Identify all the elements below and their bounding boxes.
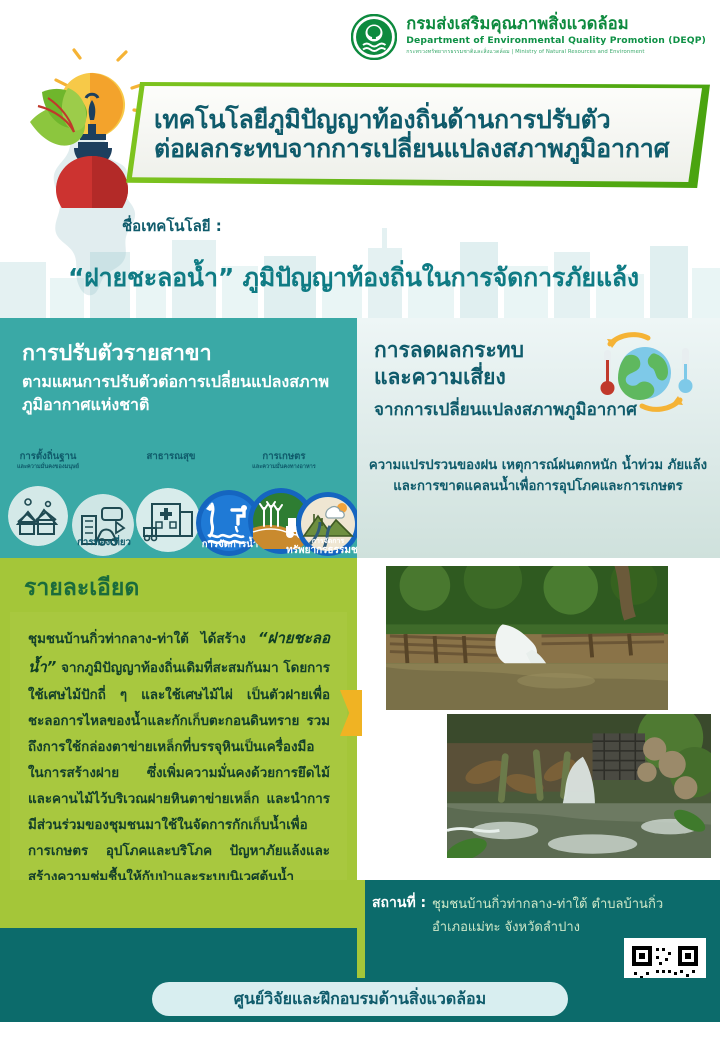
settlement-houses-icon: [8, 486, 68, 546]
mitigation-title-line2: และความเสี่ยง: [374, 365, 506, 390]
org-name-thai: กรมส่งเสริมคุณภาพสิ่งแวดล้อม: [406, 15, 706, 33]
footer-text: ศูนย์วิจัยและฝึกอบรมด้านสิ่งแวดล้อม: [234, 987, 486, 1012]
mitigation-body-text: ความแปรปรวนของฝน เหตุการณ์ฝนตกหนัก น้ำท่…: [362, 455, 714, 498]
globe-thermometer-climate-icon: [586, 330, 704, 416]
ministry-name: กระทรวงทรัพยากรธรรมชาติและสิ่งแวดล้อม | …: [406, 49, 706, 56]
mitigation-title-line1: การลดผลกระทบ: [374, 338, 524, 363]
technology-name: “ฝายชะลอน้ำ” ภูมิปัญญาท้องถิ่นในการจัดกา…: [68, 258, 708, 298]
title-ribbon: เทคโนโลยีภูมิปัญญาท้องถิ่นด้านการปรับตัว…: [132, 86, 702, 182]
sector-icon-row: การตั้งถิ่นฐาน และความมั่นคงของมนุษย์: [0, 452, 357, 558]
adaptation-panel-subtitle: ตามแผนการปรับตัวต่อการเปลี่ยนแปลงสภาพภูม…: [22, 370, 342, 416]
check-dam-wooden-weir-photo: [382, 562, 672, 714]
photo1-content: [386, 566, 668, 714]
location-line1: ชุมชนบ้านกิ่วท่ากลาง-ท่าใต้ ตำบลบ้านกิ่ว: [432, 893, 663, 914]
deqp-logo-block: กรมส่งเสริมคุณภาพสิ่งแวดล้อม Department …: [351, 14, 706, 60]
detail-title: รายละเอียด: [24, 570, 139, 606]
location-green-stripe: [357, 880, 365, 978]
poster-root: กรมส่งเสริมคุณภาพสิ่งแวดล้อม Department …: [0, 0, 720, 1040]
poster-title-line2: ต่อผลกระทบจากการเปลี่ยนแปลงสภาพภูมิอากาศ: [154, 134, 702, 164]
sector-label-agriculture: การเกษตร และความมั่นคงทางอาหาร: [228, 452, 340, 470]
sector-label-settlement: การตั้งถิ่นฐาน และความมั่นคงของมนุษย์: [0, 452, 98, 470]
photo2-content: [447, 714, 711, 862]
detail-body-text: ชุมชนบ้านกิ่วท่ากลาง-ท่าใต้ ได้สร้าง “ฝา…: [28, 624, 330, 892]
check-dam-stream-gabion-photo: [443, 710, 715, 862]
bottom-white-strip: [0, 1022, 720, 1040]
footer-pill: ศูนย์วิจัยและฝึกอบรมด้านสิ่งแวดล้อม: [152, 982, 568, 1016]
location-label: สถานที่ :: [372, 892, 426, 914]
detail-text-part1: ชุมชนบ้านกิ่วท่ากลาง-ท่าใต้ ได้สร้าง: [28, 632, 258, 647]
poster-title-line1: เทคโนโลยีภูมิปัญญาท้องถิ่นด้านการปรับตัว: [154, 105, 702, 134]
location-green-accent: [0, 880, 357, 928]
org-name-english: Department of Environmental Quality Prom…: [406, 35, 706, 47]
sector-label-public-health: สาธารณสุข: [118, 452, 224, 463]
deqp-tree-water-seal-icon: [351, 14, 397, 60]
location-line2: อำเภอแม่ทะ จังหวัดลำปาง: [432, 916, 580, 937]
adaptation-panel-title: การปรับตัวรายสาขา: [22, 336, 212, 370]
detail-text-part2: จากภูมิปัญญาท้องถิ่นเดิมที่สะสมกันมา โดย…: [28, 661, 330, 885]
technology-label: ชื่อเทคโนโลยี :: [122, 214, 222, 238]
